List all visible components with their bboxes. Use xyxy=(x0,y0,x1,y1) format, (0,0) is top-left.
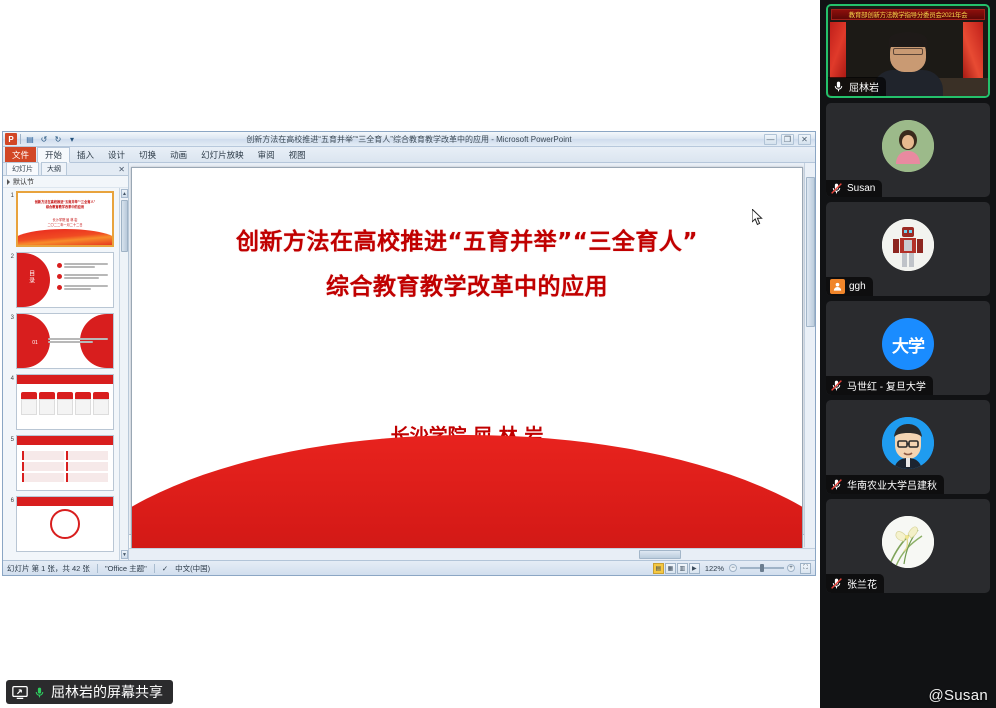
thumbnail-preview: 目录 xyxy=(16,252,114,308)
status-bar-right: ▤ ▦ ▥ ▶ 122% − + ⛶ xyxy=(653,563,811,574)
thumbnail-preview: 01 xyxy=(16,313,114,369)
person-hair xyxy=(889,32,927,47)
ribbon-tab-strip: 文件 开始 插入 设计 切换 动画 幻灯片放映 审阅 视图 xyxy=(3,147,815,163)
thumbnail-list[interactable]: 1 创新方法在高校推进“五育并举”“三全育人”综合教育教学改革中的应用 长沙学院… xyxy=(3,188,128,560)
participant-name: 马世红 - 复旦大学 xyxy=(847,378,926,393)
avatar-initials: 大学 xyxy=(892,332,924,357)
expand-triangle-icon xyxy=(7,179,10,185)
participant-name: ggh xyxy=(849,281,866,292)
slide-editing-area: 创新方法在高校推进“五育并举”“三全育人” 综合教育教学改革中的应用 长沙学院 … xyxy=(129,163,815,560)
ribbon-tab-insert[interactable]: 插入 xyxy=(70,147,101,162)
reading-view-button[interactable]: ▥ xyxy=(677,563,688,574)
thumb-wave-decoration xyxy=(16,229,114,247)
slideshow-button[interactable]: ▶ xyxy=(689,563,700,574)
ribbon-tab-file[interactable]: 文件 xyxy=(5,147,36,162)
thumb-section-badge: 01 xyxy=(29,337,42,350)
avatar xyxy=(882,516,934,568)
view-mode-buttons: ▤ ▦ ▥ ▶ xyxy=(653,563,700,574)
slide-title-line-2: 综合教育教学改革中的应用 xyxy=(132,265,802,310)
participant-name-badge: 华南农业大学吕建秋 xyxy=(826,475,944,494)
thumbnail-number: 2 xyxy=(6,252,14,308)
thumb-header-bar xyxy=(17,436,113,445)
customize-qat-icon[interactable]: ▾ xyxy=(66,133,78,145)
thumbnail-preview xyxy=(16,374,114,430)
tab-slides[interactable]: 幻灯片 xyxy=(6,162,39,175)
powerpoint-logo-icon: P xyxy=(5,133,17,145)
scrollbar-thumb[interactable] xyxy=(806,177,815,327)
participant-name-badge: 马世红 - 复旦大学 xyxy=(826,376,933,395)
flag-decoration-right xyxy=(963,22,983,84)
mouse-cursor-icon xyxy=(752,209,764,226)
fit-to-window-button[interactable]: ⛶ xyxy=(800,563,811,574)
ribbon-tab-view[interactable]: 视图 xyxy=(282,147,313,162)
quick-access-toolbar: P ▤ ↺ ↻ ▾ xyxy=(3,133,78,145)
participant-name-badge: 张兰花 xyxy=(826,574,884,593)
participant-name: 屈林岩 xyxy=(849,79,879,94)
ribbon-tab-design[interactable]: 设计 xyxy=(101,147,132,162)
thumb-circle-shape xyxy=(50,509,80,539)
thumb-toc-label: 目录 xyxy=(27,270,36,284)
thumb-header-bar xyxy=(17,375,113,384)
spell-check-icon[interactable]: ✓ xyxy=(162,564,168,573)
watermark-label: @Susan xyxy=(928,687,988,704)
participant-name: 张兰花 xyxy=(847,576,877,591)
participant-name: 华南农业大学吕建秋 xyxy=(847,477,937,492)
avatar: 大学 xyxy=(882,318,934,370)
participant-name: Susan xyxy=(847,183,875,194)
thumbnail-number: 1 xyxy=(6,191,14,247)
window-controls: — ❐ ✕ xyxy=(764,134,815,145)
thumb-title-text: 创新方法在高校推进“五育并举”“三全育人”综合教育教学改革中的应用 xyxy=(24,200,107,210)
thumb-sub-text: 长沙学院 屈 林 岩二〇二二年一月二十二日 xyxy=(24,218,107,228)
normal-view-button[interactable]: ▤ xyxy=(653,563,664,574)
close-button[interactable]: ✕ xyxy=(798,134,811,145)
conference-banner-text: 教育部创新方法教学指导分委员会2021年会 xyxy=(831,9,985,20)
participant-tile-lvjianqiu[interactable]: 华南农业大学吕建秋 xyxy=(826,400,990,494)
share-bar-label: 屈林岩的屏幕共享 xyxy=(51,682,163,702)
shared-screen-region: P ▤ ↺ ↻ ▾ 创新方法在高校推进“五育并举”“三全育人”综合教育教学改革中… xyxy=(0,0,820,708)
mic-on-icon xyxy=(33,685,46,700)
zoom-percent-label[interactable]: 122% xyxy=(705,564,724,573)
thumbnail-slide-1[interactable]: 1 创新方法在高校推进“五育并举”“三全育人”综合教育教学改革中的应用 长沙学院… xyxy=(6,191,118,247)
scrollbar-thumb[interactable] xyxy=(121,200,128,252)
participant-tile-ggh[interactable]: ggh xyxy=(826,202,990,296)
theme-label: "Office 主题" xyxy=(105,563,147,574)
participant-name-badge: 屈林岩 xyxy=(828,77,886,96)
avatar-photo xyxy=(882,120,934,172)
language-label[interactable]: 中文(中国) xyxy=(175,563,210,574)
slide-counter-label: 幻灯片 第 1 张，共 42 张 xyxy=(7,563,90,574)
tab-outline[interactable]: 大纲 xyxy=(41,162,67,175)
avatar-photo xyxy=(882,219,934,271)
screen-share-indicator[interactable]: 屈林岩的屏幕共享 xyxy=(6,680,173,704)
thumbnail-number: 6 xyxy=(6,496,14,552)
thumbnail-preview: 创新方法在高校推进“五育并举”“三全育人”综合教育教学改革中的应用 长沙学院 屈… xyxy=(16,191,114,247)
ppt-status-bar: 幻灯片 第 1 张，共 42 张 "Office 主题" ✓ 中文(中国) ▤ … xyxy=(3,560,815,575)
section-label: 默认节 xyxy=(13,177,34,187)
thumb-bullets xyxy=(57,263,108,292)
ribbon-tab-slideshow[interactable]: 幻灯片放映 xyxy=(194,147,251,162)
thumb-card-row xyxy=(21,392,109,415)
zoom-knob[interactable] xyxy=(760,564,764,572)
thumbnail-number: 5 xyxy=(6,435,14,491)
scrollbar-thumb[interactable] xyxy=(639,550,681,559)
status-divider xyxy=(154,564,155,573)
ribbon-tab-review[interactable]: 审阅 xyxy=(251,147,282,162)
status-divider xyxy=(97,564,98,573)
ribbon-tab-home[interactable]: 开始 xyxy=(37,147,70,163)
scroll-up-icon[interactable]: ▲ xyxy=(121,189,128,198)
thumbnail-preview xyxy=(16,435,114,491)
ppt-title-bar: P ▤ ↺ ↻ ▾ 创新方法在高校推进“五育并举”“三全育人”综合教育教学改革中… xyxy=(3,132,815,147)
mic-muted-icon xyxy=(830,379,843,392)
screen-share-icon xyxy=(12,686,28,699)
avatar xyxy=(882,219,934,271)
ribbon-tab-transitions[interactable]: 切换 xyxy=(132,147,163,162)
ribbon-tab-animations[interactable]: 动画 xyxy=(163,147,194,162)
minimize-button[interactable]: — xyxy=(764,134,777,145)
zoom-track[interactable] xyxy=(740,567,784,569)
thumbnail-number: 4 xyxy=(6,374,14,430)
scroll-down-icon[interactable]: ▼ xyxy=(121,550,128,559)
thumbnail-preview xyxy=(16,496,114,552)
restore-button[interactable]: ❐ xyxy=(781,134,794,145)
ppt-window-title: 创新方法在高校推进“五育并举”“三全育人”综合教育教学改革中的应用 - Micr… xyxy=(3,134,815,145)
redo-icon[interactable]: ↻ xyxy=(52,133,64,145)
user-badge-icon xyxy=(830,279,845,294)
participant-tile-susan[interactable]: Susan xyxy=(826,103,990,197)
wave-layer-1 xyxy=(132,435,802,548)
thumbnail-slide-2[interactable]: 2 目录 xyxy=(6,252,118,308)
slide-title-text[interactable]: 创新方法在高校推进“五育并举”“三全育人” 综合教育教学改革中的应用 xyxy=(132,220,802,310)
participant-name-badge: Susan xyxy=(826,180,882,197)
slide-vertical-scrollbar[interactable] xyxy=(804,163,815,547)
glasses xyxy=(893,48,923,55)
slide-title-line-1: 创新方法在高校推进“五育并举”“三全育人” xyxy=(132,220,802,265)
thumbnail-scrollbar[interactable]: ▲ ▼ xyxy=(119,188,128,560)
slide-thumbnail-pane: 幻灯片 大纲 ✕ 默认节 1 创新方法在高校推进“五育并举”“三全育人”综合教育… xyxy=(3,163,129,560)
participant-name-badge: ggh xyxy=(826,277,873,296)
zoom-out-button[interactable]: − xyxy=(729,564,737,572)
participant-tile-qulinyan[interactable]: 教育部创新方法教学指导分委员会2021年会 屈林岩 xyxy=(826,4,990,98)
undo-icon[interactable]: ↺ xyxy=(38,133,50,145)
avatar-photo xyxy=(882,417,934,469)
participant-tile-zhanglanhua[interactable]: 张兰花 xyxy=(826,499,990,593)
thumbnail-slide-4[interactable]: 4 xyxy=(6,374,118,430)
thumb-header-bar xyxy=(17,497,113,506)
avatar-photo xyxy=(882,516,934,568)
current-slide[interactable]: 创新方法在高校推进“五育并举”“三全育人” 综合教育教学改革中的应用 长沙学院 … xyxy=(131,167,803,549)
mic-muted-icon xyxy=(830,478,843,491)
thumbnail-slide-5[interactable]: 5 xyxy=(6,435,118,491)
thumbnail-slide-6[interactable]: 6 xyxy=(6,496,118,552)
thumbnail-slide-3[interactable]: 3 01 xyxy=(6,313,118,369)
ppt-workspace: 幻灯片 大纲 ✕ 默认节 1 创新方法在高校推进“五育并举”“三全育人”综合教育… xyxy=(3,163,815,560)
zoom-slider[interactable]: − + xyxy=(729,564,795,572)
slide-ribbon-decoration xyxy=(132,398,802,548)
slide-sorter-button[interactable]: ▦ xyxy=(665,563,676,574)
thumbnail-number: 3 xyxy=(6,313,14,369)
mic-muted-icon xyxy=(830,182,843,195)
slide-canvas-wrapper: 创新方法在高校推进“五育并举”“三全育人” 综合教育教学改革中的应用 长沙学院 … xyxy=(129,163,815,534)
flag-decoration-left xyxy=(830,22,846,80)
slide-horizontal-scrollbar[interactable] xyxy=(129,548,815,560)
save-icon[interactable]: ▤ xyxy=(24,133,36,145)
close-pane-icon[interactable]: ✕ xyxy=(118,165,125,174)
zoom-in-button[interactable]: + xyxy=(787,564,795,572)
qat-divider xyxy=(20,134,21,144)
mic-muted-icon xyxy=(830,577,843,590)
avatar xyxy=(882,417,934,469)
section-header[interactable]: 默认节 xyxy=(3,176,128,188)
mic-on-icon xyxy=(832,80,845,93)
participant-tile-mashihong[interactable]: 大学 马世红 - 复旦大学 xyxy=(826,301,990,395)
avatar xyxy=(882,120,934,172)
thumbnail-pane-tabs: 幻灯片 大纲 ✕ xyxy=(3,163,128,176)
thumb-grid xyxy=(22,451,108,482)
powerpoint-window: P ▤ ↺ ↻ ▾ 创新方法在高校推进“五育并举”“三全育人”综合教育教学改革中… xyxy=(2,131,816,576)
participant-filmstrip[interactable]: 教育部创新方法教学指导分委员会2021年会 屈林岩 xyxy=(820,0,996,708)
